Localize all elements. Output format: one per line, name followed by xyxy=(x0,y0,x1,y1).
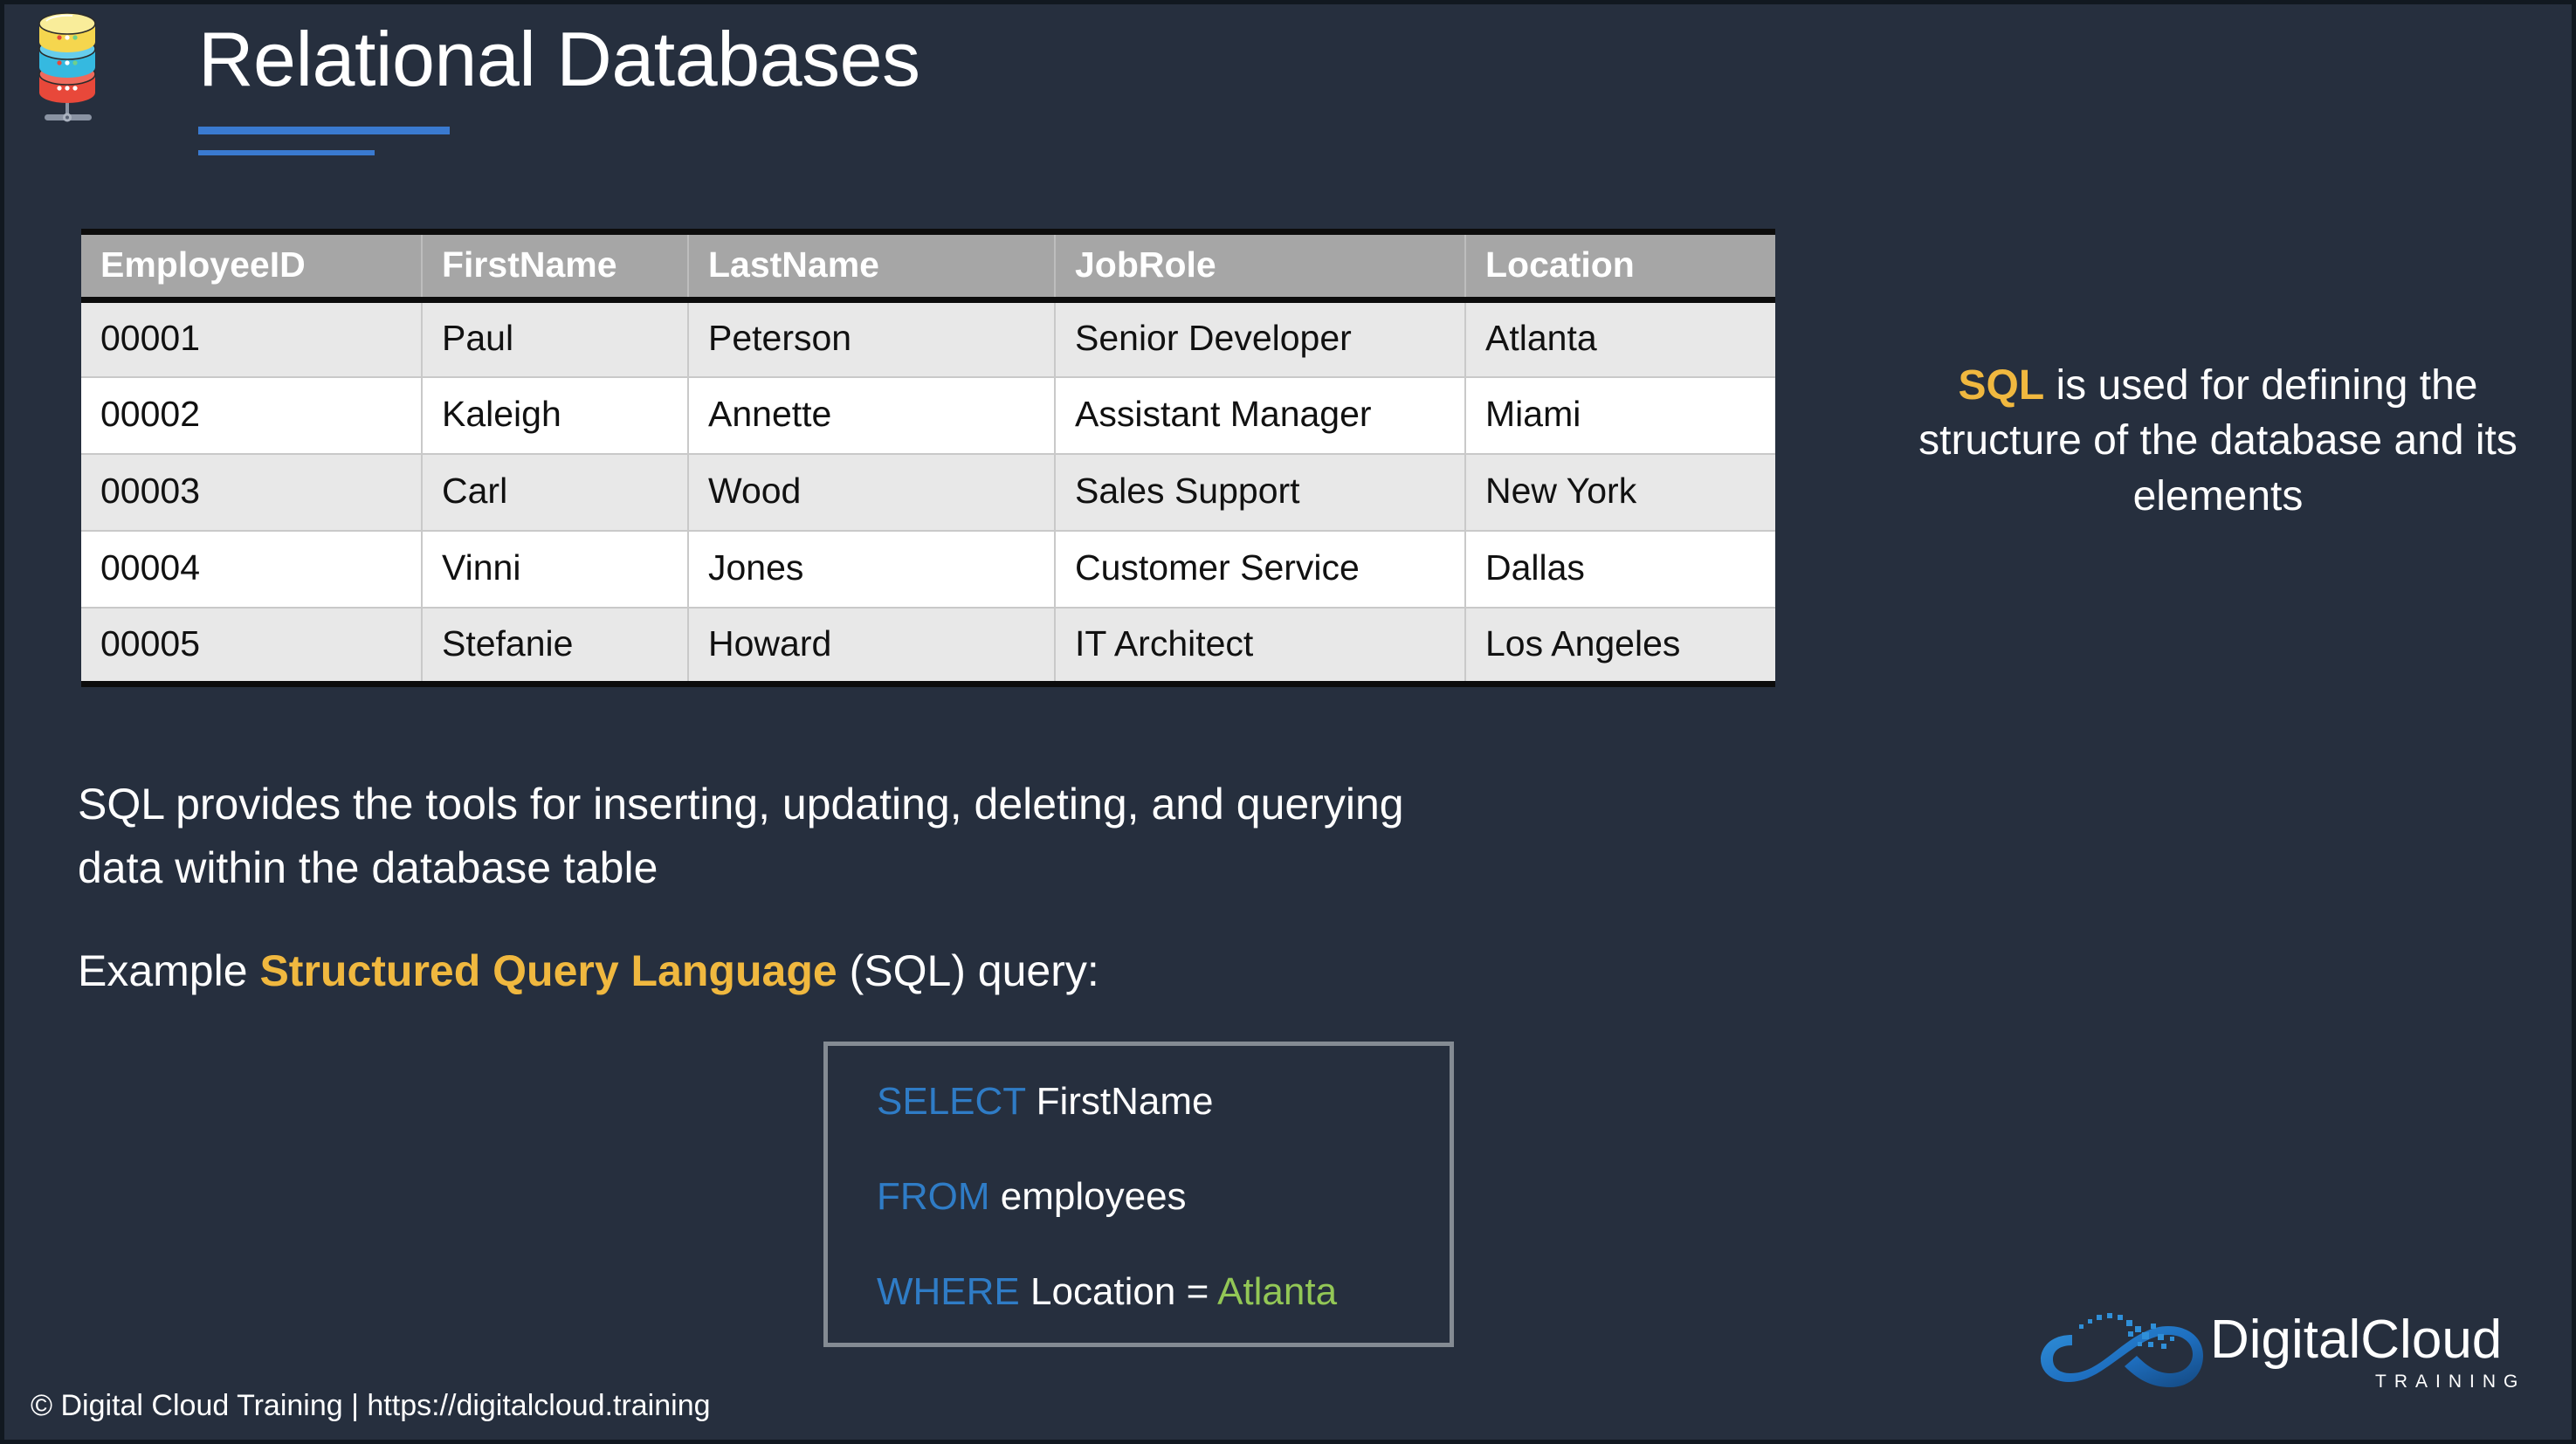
cell-employeeid: 00005 xyxy=(81,608,422,684)
logo-tagline: TRAINING xyxy=(2375,1372,2525,1392)
sql-keyword-where: WHERE xyxy=(877,1270,1020,1313)
cell-location: New York xyxy=(1465,454,1775,531)
cell-lastname: Howard xyxy=(688,608,1055,684)
sql-line-select: SELECT FirstName xyxy=(877,1083,1450,1121)
slide-header: Relational Databases xyxy=(4,4,2572,179)
cell-firstname: Vinni xyxy=(422,531,688,608)
cell-lastname: Annette xyxy=(688,377,1055,454)
cell-firstname: Kaleigh xyxy=(422,377,688,454)
column-header-jobrole[interactable]: JobRole xyxy=(1055,232,1465,300)
cell-firstname: Paul xyxy=(422,300,688,377)
column-header-firstname[interactable]: FirstName xyxy=(422,232,688,300)
example-suffix: (SQL) query: xyxy=(837,946,1099,995)
cell-jobrole: Assistant Manager xyxy=(1055,377,1465,454)
sql-where-value: Atlanta xyxy=(1217,1270,1337,1313)
cell-location: Atlanta xyxy=(1465,300,1775,377)
footer-copyright: © Digital Cloud Training | https://digit… xyxy=(31,1389,711,1423)
sql-query-box: SELECT FirstName FROM employees WHERE Lo… xyxy=(823,1042,1454,1347)
cell-lastname: Wood xyxy=(688,454,1055,531)
table-row: 00002 Kaleigh Annette Assistant Manager … xyxy=(81,377,1775,454)
table-header-row: EmployeeID FirstName LastName JobRole Lo… xyxy=(81,232,1775,300)
cell-jobrole: Sales Support xyxy=(1055,454,1465,531)
table-head: EmployeeID FirstName LastName JobRole Lo… xyxy=(81,232,1775,300)
cell-location: Miami xyxy=(1465,377,1775,454)
database-stack-icon xyxy=(34,11,102,125)
brand-logo: DigitalCloud TRAINING xyxy=(2039,1298,2554,1394)
sql-select-columns: FirstName xyxy=(1025,1080,1213,1123)
infinity-cloud-icon xyxy=(2039,1298,2205,1394)
table-row: 00005 Stefanie Howard IT Architect Los A… xyxy=(81,608,1775,684)
cell-jobrole: IT Architect xyxy=(1055,608,1465,684)
cell-firstname: Stefanie xyxy=(422,608,688,684)
example-prefix: Example xyxy=(78,946,259,995)
sql-keyword-highlight: SQL xyxy=(1959,362,2045,409)
table-row: 00004 Vinni Jones Customer Service Dalla… xyxy=(81,531,1775,608)
table-body: 00001 Paul Peterson Senior Developer Atl… xyxy=(81,300,1775,684)
page-title: Relational Databases xyxy=(198,15,920,104)
cell-location: Los Angeles xyxy=(1465,608,1775,684)
sql-where-column: Location = xyxy=(1020,1270,1217,1313)
cell-employeeid: 00002 xyxy=(81,377,422,454)
cell-jobrole: Customer Service xyxy=(1055,531,1465,608)
paragraph-example-heading: Example Structured Query Language (SQL) … xyxy=(78,943,1562,1000)
sql-line-from: FROM employees xyxy=(877,1178,1450,1216)
employees-table-container: EmployeeID FirstName LastName JobRole Lo… xyxy=(81,229,1775,687)
cell-employeeid: 00003 xyxy=(81,454,422,531)
column-header-employeeid[interactable]: EmployeeID xyxy=(81,232,422,300)
accent-bar-secondary xyxy=(198,150,375,155)
cell-employeeid: 00004 xyxy=(81,531,422,608)
cell-jobrole: Senior Developer xyxy=(1055,300,1465,377)
table-row: 00001 Paul Peterson Senior Developer Atl… xyxy=(81,300,1775,377)
sql-expansion-highlight: Structured Query Language xyxy=(259,946,837,995)
cell-lastname: Peterson xyxy=(688,300,1055,377)
accent-bar-primary xyxy=(198,127,450,134)
cell-lastname: Jones xyxy=(688,531,1055,608)
sql-from-table: employees xyxy=(990,1175,1187,1218)
paragraph-sql-tools: SQL provides the tools for inserting, up… xyxy=(78,773,1475,899)
logo-wordmark: DigitalCloud xyxy=(2210,1309,2502,1371)
cell-employeeid: 00001 xyxy=(81,300,422,377)
sql-keyword-select: SELECT xyxy=(877,1080,1025,1123)
slide-canvas: Relational Databases EmployeeID FirstNam… xyxy=(0,0,2576,1444)
sql-definition-note: SQL is used for defining the structure o… xyxy=(1886,358,2550,524)
sql-line-where: WHERE Location = Atlanta xyxy=(877,1273,1450,1311)
column-header-location[interactable]: Location xyxy=(1465,232,1775,300)
cell-firstname: Carl xyxy=(422,454,688,531)
sql-keyword-from: FROM xyxy=(877,1175,990,1218)
table-row: 00003 Carl Wood Sales Support New York xyxy=(81,454,1775,531)
cell-location: Dallas xyxy=(1465,531,1775,608)
column-header-lastname[interactable]: LastName xyxy=(688,232,1055,300)
employees-table: EmployeeID FirstName LastName JobRole Lo… xyxy=(81,229,1775,687)
